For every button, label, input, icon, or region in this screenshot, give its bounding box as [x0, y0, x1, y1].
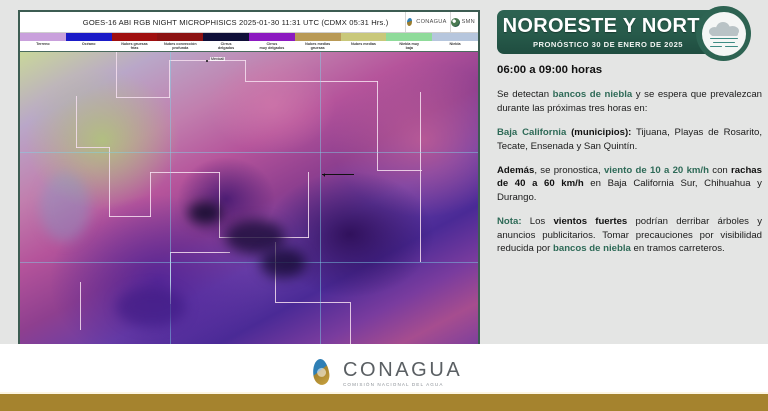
forecast-date-subtitle: PRONÓSTICO 30 DE ENERO DE 2025 — [533, 40, 683, 49]
conagua-brandmark-titlebar: CONAGUA — [405, 12, 449, 32]
text-run: con — [709, 165, 731, 176]
forecast-paragraph-note: Nota: Los vientos fuertes podrían derrib… — [497, 215, 762, 255]
conagua-logo-text: CONAGUA COMISIÓN NACIONAL DEL AGUA — [343, 360, 462, 387]
border-line — [116, 52, 117, 98]
border-line — [378, 170, 422, 171]
text-run: (municipios): — [566, 127, 631, 138]
legend-color-strip — [20, 33, 478, 41]
legend-swatch-3 — [157, 33, 203, 41]
legend-label-1: Océano — [66, 41, 112, 51]
legend-swatch-0 — [20, 33, 66, 41]
border-line — [116, 97, 170, 98]
text-run: viento de 10 a 20 km/h — [604, 165, 709, 176]
border-line — [109, 216, 151, 217]
legend-label-6: Nubes medias gruesas — [295, 41, 341, 51]
border-line — [76, 96, 77, 148]
cloud-shape — [709, 22, 739, 35]
forecast-paragraph-list: Se detectan bancos de niebla y se espera… — [497, 88, 762, 255]
cloud-blob — [40, 172, 90, 242]
border-line — [219, 172, 220, 238]
border-line — [275, 302, 350, 303]
border-line — [350, 302, 351, 346]
satellite-panel: GOES-16 ABI RGB NIGHT MICROPHISICS 2025-… — [18, 10, 480, 344]
place-marker — [206, 60, 208, 62]
fog-cloud-icon — [696, 6, 751, 61]
text-run: Los — [522, 216, 554, 227]
forecast-time-range: 06:00 a 09:00 horas — [497, 64, 762, 77]
legend-swatch-8 — [386, 33, 432, 41]
conagua-logo-subtitle: COMISIÓN NACIONAL DEL AGUA — [343, 382, 462, 387]
legend-label-9: Niebla — [432, 41, 478, 51]
satellite-title: GOES-16 ABI RGB NIGHT MICROPHISICS 2025-… — [20, 18, 405, 27]
legend-label-0: Terreno — [20, 41, 66, 51]
footer-gold-bar — [0, 394, 768, 411]
water-drop-icon — [406, 17, 414, 27]
text-run: bancos de niebla — [553, 89, 633, 100]
legend-swatch-2 — [112, 33, 158, 41]
fog-line — [725, 46, 738, 48]
satellite-titlebar: GOES-16 ABI RGB NIGHT MICROPHISICS 2025-… — [20, 12, 478, 33]
border-line — [80, 282, 81, 330]
grid-line-longitude — [320, 52, 321, 346]
fog-line — [713, 42, 735, 44]
legend-label-3: Nubes convección profunda — [157, 41, 203, 51]
legend-swatch-1 — [66, 33, 112, 41]
grid-line-latitude — [20, 152, 478, 153]
smn-seal-icon — [451, 18, 460, 27]
legend-label-4: Cirrus delgados — [203, 41, 249, 51]
forecast-body-text: 06:00 a 09:00 horas Se detectan bancos d… — [497, 64, 762, 266]
cloud-blob — [116, 287, 186, 327]
forecast-header-banner: NOROESTE Y NORTE PRONÓSTICO 30 DE ENERO … — [497, 10, 719, 54]
legend-label-row: TerrenoOcéanoNubes gruesas fríasNubes co… — [20, 41, 478, 52]
satellite-raster-image: Mexicali — [20, 52, 478, 346]
grid-line-latitude — [20, 262, 478, 263]
forecast-paragraph-detection: Se detectan bancos de niebla y se espera… — [497, 88, 762, 115]
legend-label-2: Nubes gruesas frías — [112, 41, 158, 51]
forecast-paragraph-wind: Además, se pronostica, viento de 10 a 20… — [497, 164, 762, 204]
forecast-paragraph-states: Baja California (municipios): Tijuana, P… — [497, 126, 762, 153]
legend-swatch-5 — [249, 33, 295, 41]
legend-swatch-7 — [341, 33, 387, 41]
smn-brand-label: SMN — [462, 19, 475, 25]
fog-line — [710, 38, 738, 40]
text-run: Se detectan — [497, 89, 553, 100]
conagua-logo-name: CONAGUA — [343, 359, 462, 381]
conagua-brand-label: CONAGUA — [416, 19, 446, 25]
border-line — [170, 60, 246, 61]
border-line — [170, 252, 230, 253]
legend-swatch-4 — [203, 33, 249, 41]
place-label: Mexicali — [210, 57, 225, 61]
legend-swatch-9 — [432, 33, 478, 41]
border-line — [109, 147, 110, 217]
forecast-region-title: NOROESTE Y NORTE — [503, 16, 714, 37]
border-line — [308, 172, 309, 238]
legend-label-8: Niebla muy baja — [386, 41, 432, 51]
fog-cloud-icon-inner — [702, 12, 746, 56]
text-run: Baja California — [497, 127, 566, 138]
border-line — [150, 172, 151, 217]
text-run: , se pronostica, — [534, 165, 604, 176]
wind-arrow-annotation — [322, 174, 354, 175]
conagua-logo: CONAGUA COMISIÓN NACIONAL DEL AGUA — [310, 358, 462, 388]
border-line — [245, 60, 246, 82]
border-line — [150, 172, 220, 173]
smn-brandmark-titlebar: SMN — [450, 12, 478, 32]
cloud-blob — [188, 202, 222, 224]
border-line — [76, 147, 110, 148]
legend-label-5: Cirrus muy delgados — [249, 41, 295, 51]
fog-line — [710, 46, 722, 48]
legend-swatch-6 — [295, 33, 341, 41]
border-line — [377, 81, 378, 171]
text-run: bancos de niebla — [553, 243, 631, 254]
text-run: en tramos carreteros. — [631, 243, 725, 254]
text-run: vientos fuertes — [553, 216, 627, 227]
legend-label-7: Nubes medias — [341, 41, 387, 51]
text-run: Además — [497, 165, 534, 176]
border-line — [246, 81, 378, 82]
cloud-blob — [260, 248, 306, 278]
border-line — [420, 92, 421, 262]
forecast-panel: NOROESTE Y NORTE PRONÓSTICO 30 DE ENERO … — [484, 0, 768, 344]
text-run: Nota: — [497, 216, 522, 227]
conagua-water-icon — [310, 358, 336, 388]
